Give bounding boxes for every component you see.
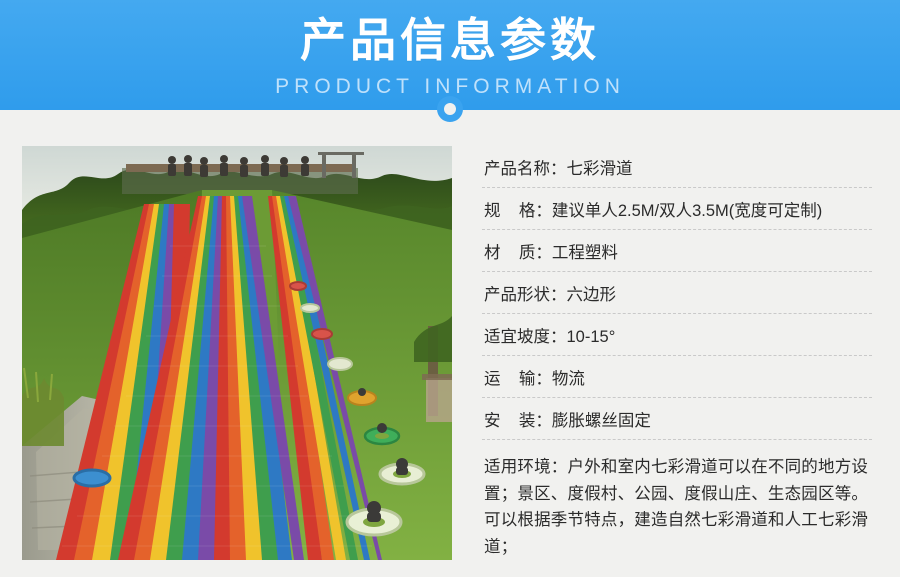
spec-value: 六边形: [567, 281, 871, 305]
spec-value: 建议单人2.5M/双人3.5M(宽度可定制): [552, 197, 870, 221]
spec-value: 工程塑料: [552, 239, 870, 263]
table-row: 材 质： 工程塑料: [482, 230, 872, 272]
product-info-page: 产品信息参数 PRODUCT INFORMATION: [0, 0, 900, 577]
spec-table: 产品名称： 七彩滑道 规 格： 建议单人2.5M/双人3.5M(宽度可定制) 材…: [482, 146, 878, 561]
spec-value: 10-15°: [567, 328, 871, 347]
product-photo-illustration: [22, 146, 452, 560]
page-subtitle: PRODUCT INFORMATION: [275, 75, 625, 99]
page-title: 产品信息参数: [300, 13, 600, 68]
page-header-banner: 产品信息参数 PRODUCT INFORMATION: [0, 0, 900, 110]
table-row: 适宜坡度： 10-15°: [482, 314, 872, 356]
usage-environment-note: 适用环境：户外和室内七彩滑道可以在不同的地方设置；景区、度假村、公园、度假山庄、…: [482, 440, 872, 561]
spec-label: 产品形状：: [484, 281, 567, 305]
table-row: 安 装： 膨胀螺丝固定: [482, 398, 872, 440]
spec-label: 产品名称：: [484, 155, 567, 179]
spec-label: 运 输：: [484, 365, 552, 389]
spec-label: 适宜坡度：: [484, 323, 567, 347]
table-row: 产品形状： 六边形: [482, 272, 872, 314]
spec-label: 规 格：: [484, 197, 552, 221]
table-row: 产品名称： 七彩滑道: [482, 146, 872, 188]
spec-label: 安 装：: [484, 407, 552, 431]
spec-value: 物流: [552, 365, 870, 389]
content-area: 产品名称： 七彩滑道 规 格： 建议单人2.5M/双人3.5M(宽度可定制) 材…: [0, 110, 900, 561]
table-row: 规 格： 建议单人2.5M/双人3.5M(宽度可定制): [482, 188, 872, 230]
spec-value: 膨胀螺丝固定: [552, 407, 870, 431]
spec-label: 材 质：: [484, 239, 552, 263]
banner-text-group: 产品信息参数 PRODUCT INFORMATION: [0, 0, 900, 110]
table-row: 运 输： 物流: [482, 356, 872, 398]
spec-value: 七彩滑道: [567, 155, 871, 179]
product-photo: [22, 146, 452, 560]
